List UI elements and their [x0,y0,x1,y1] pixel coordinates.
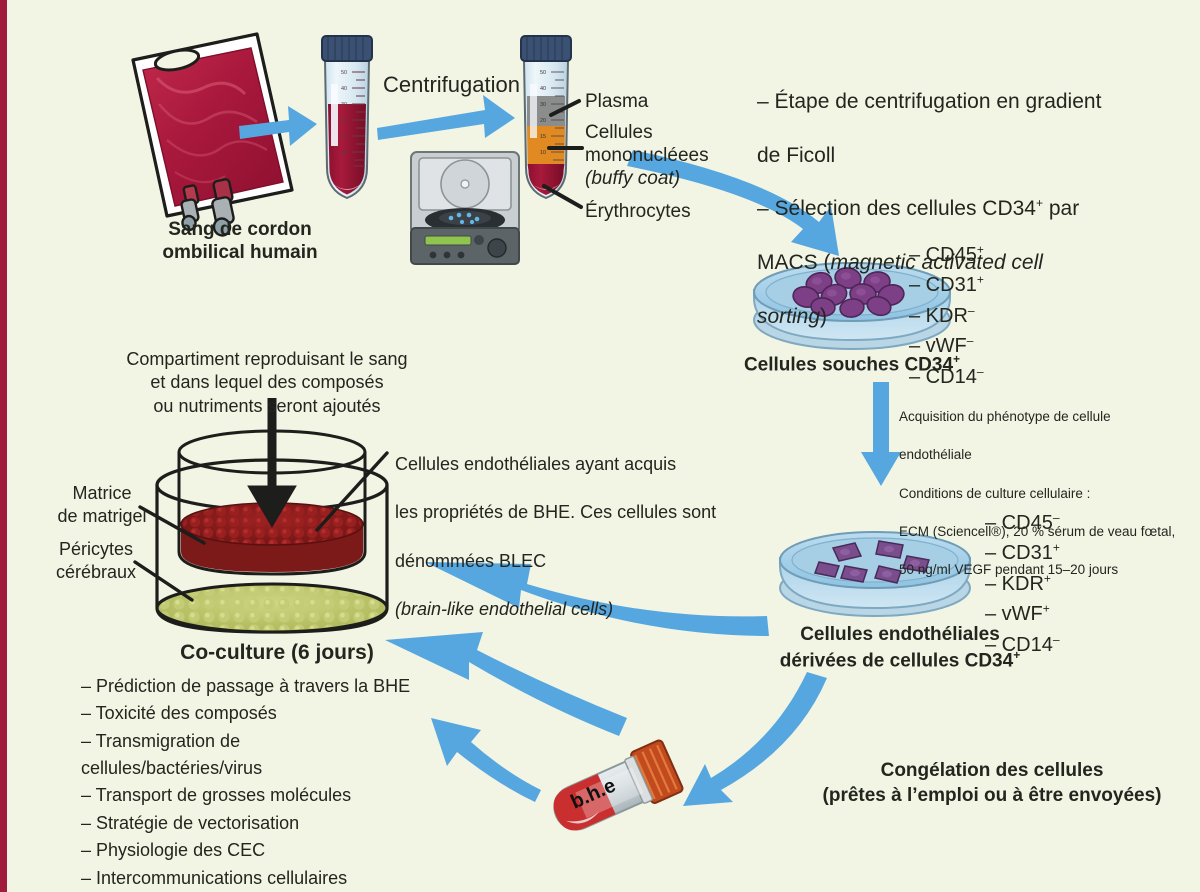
svg-text:15: 15 [341,134,347,140]
pericytes-label: Péricytescérébraux [31,538,161,585]
svg-text:20: 20 [341,118,347,124]
svg-text:50: 50 [540,70,546,76]
figure-canvas: 5040 3020 1510 [0,0,1200,892]
marker-item: – KDR– [909,301,984,331]
arrow-to-freezing [683,672,827,806]
svg-text:40: 40 [341,86,347,92]
freezing-caption: Congélation des cellules(prêtes à l’empl… [807,758,1177,808]
list-item: – Prédiction de passage à travers la BHE [81,673,410,700]
marker-item: – CD31+ [985,538,1060,568]
matrigel-label: Matricede matrigel [37,482,167,529]
list-item: – Physiologie des CEC [81,837,410,864]
list-item: – Toxicité des composés [81,700,410,727]
svg-text:10: 10 [540,150,546,156]
blood-bag-icon [133,34,292,237]
centrifuge-icon [411,152,519,264]
blec-note: Cellules endothéliales ayant acquis les … [395,428,725,621]
list-item: cellules/bactéries/virus [81,755,410,782]
compartment-note: Compartiment reproduisant le sanget dans… [117,348,417,418]
marker-item: – KDR+ [985,569,1060,599]
endothelial-cells-caption: Cellules endothélialesdérivées de cellul… [755,623,1045,674]
svg-text:15: 15 [540,134,546,140]
svg-text:30: 30 [540,102,546,108]
arrow-tube-to-tube [377,95,515,140]
coculture-caption: Co-culture (6 jours) [142,640,412,666]
coculture-well [135,398,387,632]
list-item: – Transmigration de [81,728,410,755]
tube-plasma-label: Plasma [585,90,648,113]
svg-text:20: 20 [540,118,546,124]
svg-text:30: 30 [341,102,347,108]
centrifugation-label: Centrifugation [383,72,520,99]
tube-erythrocytes-label: Érythrocytes [585,200,691,223]
falcon-tube-1: 5040 3020 1510 [322,36,372,198]
marker-item: – CD31+ [909,270,984,300]
arrow-differentiation [861,382,901,486]
stem-cells-caption: Cellules souches CD34+ [707,352,997,377]
list-item: – Intercommunications cellulaires [81,865,410,892]
svg-text:40: 40 [540,86,546,92]
arrow-cryo-to-coculture [431,718,541,802]
marker-item: – CD45– [985,508,1060,538]
blood-bag-caption: Sang de cordon ombilical humain [125,218,355,264]
list-item: – Stratégie de vectorisation [81,810,410,837]
marker-item: – CD45+ [909,240,984,270]
list-item: – Transport de grosses molécules [81,782,410,809]
svg-text:10: 10 [341,150,347,156]
svg-text:50: 50 [341,70,347,76]
falcon-tube-2: 5040 3020 1510 [521,36,582,207]
arrow-lower-to-coculture [385,632,627,736]
applications-list: – Prédiction de passage à travers la BHE… [81,673,410,892]
tube-mononuclear-label: Cellulesmononucléees(buffy coat) [585,121,709,191]
